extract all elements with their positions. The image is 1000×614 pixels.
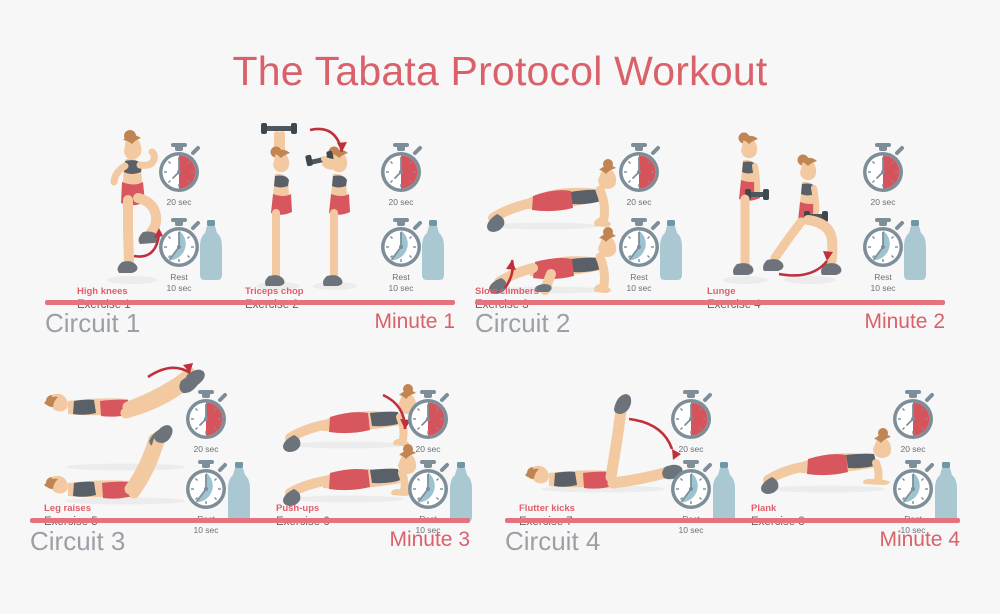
stopwatch-work-icon: [887, 390, 939, 442]
figure-slow-climbers: [475, 148, 635, 298]
stopwatch-work-icon: [613, 143, 665, 195]
stopwatch-rest-icon: [887, 460, 939, 512]
timer-work-label: 20 sec: [402, 444, 454, 455]
caption-exercise-5: Leg raises Exercise 5: [44, 503, 98, 529]
stopwatch-rest-icon: [402, 460, 454, 512]
stopwatch-work-icon: [857, 143, 909, 195]
timer-work-label: 20 sec: [887, 444, 939, 455]
timer-work-label: 20 sec: [375, 197, 427, 208]
stopwatch-work-icon: [375, 143, 427, 195]
stopwatch-work-icon: [665, 390, 717, 442]
stopwatch-work-icon: [180, 390, 232, 442]
circuit-1-block: High knees Exercise 1: [45, 110, 455, 345]
timer-work-2: 20 sec: [375, 143, 427, 208]
minute-label: Minute 4: [879, 528, 960, 552]
timer-work-7: 20 sec: [665, 390, 717, 455]
circuit-divider-bar: [30, 518, 470, 523]
bottle-icon: [226, 462, 252, 522]
water-bottle-3: [658, 220, 684, 280]
bottle-icon: [420, 220, 446, 280]
timer-rest-5: Rest 10 sec: [180, 460, 232, 535]
caption-exercise-7: Flutter kicks Exercise 7: [519, 503, 575, 529]
circuit-3-block: Leg raises Exercise 5: [30, 355, 470, 570]
infographic-canvas: The Tabata Protocol Workout: [0, 0, 1000, 614]
exercise-name: Push-ups: [276, 503, 330, 515]
stopwatch-work-icon: [402, 390, 454, 442]
timer-rest-7: Rest 10 sec: [665, 460, 717, 535]
timer-work-3: 20 sec: [613, 143, 665, 208]
timer-work-4: 20 sec: [857, 143, 909, 208]
figure-plank: [750, 423, 905, 495]
water-bottle-2: [420, 220, 446, 280]
circuit-divider-bar: [505, 518, 960, 523]
circuit-4-block: Flutter kicks Exercise 7 Plank: [505, 355, 960, 570]
caption-exercise-8: Plank Exercise 8: [751, 503, 805, 529]
timer-work-label: 20 sec: [180, 444, 232, 455]
caption-exercise-4: Lunge Exercise 4: [707, 286, 761, 312]
minute-label: Minute 3: [389, 528, 470, 552]
timer-work-6: 20 sec: [402, 390, 454, 455]
stopwatch-rest-icon: [180, 460, 232, 512]
minute-label: Minute 2: [864, 310, 945, 334]
timer-work-8: 20 sec: [887, 390, 939, 455]
minute-label: Minute 1: [374, 310, 455, 334]
stopwatch-work-icon: [153, 143, 205, 195]
water-bottle-4: [902, 220, 928, 280]
timer-work-label: 20 sec: [153, 197, 205, 208]
timer-rest-8: Rest 10 sec: [887, 460, 939, 535]
exercise-name: Flutter kicks: [519, 503, 575, 515]
water-bottle-6: [448, 462, 474, 522]
exercise-name: Triceps chop: [245, 286, 304, 298]
bottle-icon: [658, 220, 684, 280]
page-title: The Tabata Protocol Workout: [0, 48, 1000, 95]
caption-exercise-6: Push-ups Exercise 6: [276, 503, 330, 529]
timer-work-label: 20 sec: [857, 197, 909, 208]
water-bottle-8: [933, 462, 959, 522]
water-bottle-7: [711, 462, 737, 522]
bottle-icon: [933, 462, 959, 522]
caption-exercise-2: Triceps chop Exercise 2: [245, 286, 304, 312]
exercise-name: High knees: [77, 286, 131, 298]
exercise-name: Lunge: [707, 286, 761, 298]
timer-work-1: 20 sec: [153, 143, 205, 208]
circuit-label: Circuit 3: [30, 526, 125, 557]
bottle-icon: [198, 220, 224, 280]
stopwatch-rest-icon: [665, 460, 717, 512]
timer-rest-6: Rest 10 sec: [402, 460, 454, 535]
circuit-divider-bar: [45, 300, 455, 305]
bottle-icon: [711, 462, 737, 522]
timer-work-5: 20 sec: [180, 390, 232, 455]
bottle-icon: [902, 220, 928, 280]
exercise-name: Leg raises: [44, 503, 98, 515]
timer-work-label: 20 sec: [665, 444, 717, 455]
figure-lunge: [715, 128, 850, 288]
bottle-icon: [448, 462, 474, 522]
water-bottle-5: [226, 462, 252, 522]
exercise-name: Plank: [751, 503, 805, 515]
figure-triceps-chop: [250, 118, 370, 293]
circuit-label: Circuit 4: [505, 526, 600, 557]
exercise-name: Slow climbers: [475, 286, 539, 298]
circuit-label: Circuit 2: [475, 308, 570, 339]
circuit-divider-bar: [475, 300, 945, 305]
circuit-2-block: Slow climbers Exercise 3: [475, 110, 945, 345]
circuit-label: Circuit 1: [45, 308, 140, 339]
water-bottle-1: [198, 220, 224, 280]
timer-work-label: 20 sec: [613, 197, 665, 208]
